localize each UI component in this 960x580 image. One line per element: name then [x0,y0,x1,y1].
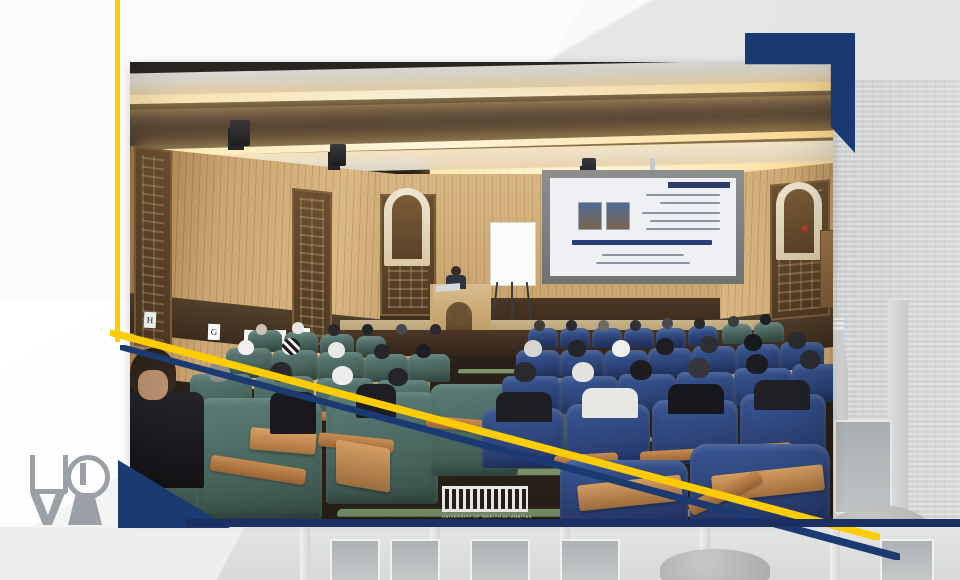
row-sign-h: H [144,312,157,329]
navy-horizontal-rule [186,519,960,527]
logo-letter-w-icon [30,493,74,525]
projection-screen [542,170,744,284]
projection-slide [550,178,736,276]
wall-speaker-1 [230,120,250,146]
strip-column-5 [830,527,840,580]
uowa-logo [30,455,126,529]
mihrab-ornament-left [384,188,430,266]
slide-portrait-2 [606,202,630,230]
lecture-hall-photo: H G F E D [130,62,833,520]
watermark-kufic-logo-icon [442,486,528,512]
flipchart-board [490,222,536,286]
uowa-logo-line-1 [30,455,126,491]
flipchart-legs [490,282,534,324]
exit-indicator-icon [802,226,807,231]
uowa-logo-line-2 [30,491,126,527]
slide-title-bar [572,240,712,245]
banner-canvas: H G F E D [0,0,960,580]
strip-window-5 [880,539,934,580]
wall-speaker-2 [330,144,346,166]
strip-window-3 [470,539,530,580]
yellow-accent-vertical [115,0,120,330]
slide-portrait-1 [578,202,602,230]
hall-door [820,230,833,308]
strip-window-4 [560,539,620,580]
photo-watermark: UNIVERSITY OF WARITH AL-ANBIYAA [442,486,528,520]
mihrab-ornament-right [776,182,822,260]
logo-letter-u-icon [30,455,68,494]
row-sign-g: G [208,324,221,340]
slide-header-bar [668,182,730,188]
strip-diagonal-wedge [0,527,440,580]
